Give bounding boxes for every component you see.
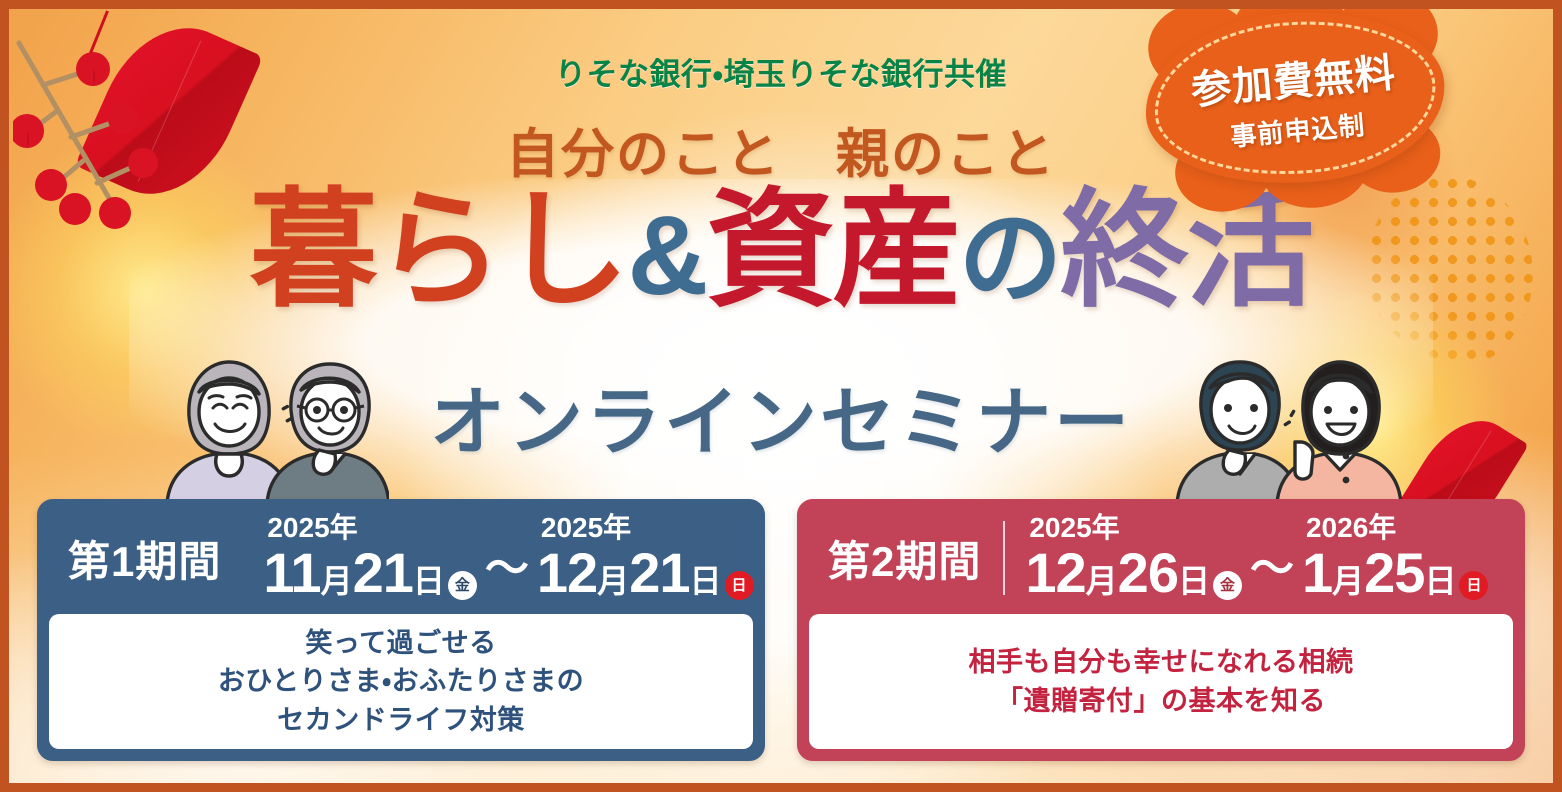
start-month: 11 [263,545,320,601]
period-1-body-line-2: おひとりさま・おふたりさまの [218,666,584,696]
period-2-body-line-1: 相手も自分も幸せになれる相続 [969,647,1354,677]
start-month-unit: 月 [321,565,353,597]
end-day-unit: 日 [1424,565,1456,597]
seminar-banner: りそな銀行・埼玉りそな銀行共催 自分のこと 親のこと 暮らし&資産の終活 オンラ… [0,0,1562,792]
title-part-ampersand: & [628,193,707,318]
period-cards: 第1期間 2025年 11月21日金 〜 2025年 12月21日日 [9,499,1553,769]
start-day: 26 [1118,545,1178,601]
end-month-unit: 月 [597,565,629,597]
elderly-couple-illustration [159,354,389,504]
free-admission-badge: 参加費無料 事前申込制 [1138,0,1452,195]
period-2-body-line-2: 「遺贈寄付」の基本を知る [996,686,1326,716]
period-card-1-header: 第1期間 2025年 11月21日金 〜 2025年 12月21日日 [40,502,762,614]
period-card-2-body: 相手も自分も幸せになれる相続 「遺贈寄付」の基本を知る [809,614,1513,749]
title-part-no: の [958,201,1060,317]
period-card-1-body: 笑って過ごせる おひとりさま・おふたりさまの セカンドライフ対策 [49,614,753,749]
title-part-shukatsu: 終活 [1060,179,1312,322]
end-year: 2025年 [537,514,631,542]
end-day: 25 [1364,545,1424,601]
end-month: 1 [1302,545,1332,601]
date-range-tilde: 〜 [1246,532,1298,596]
younger-couple-illustration [1173,354,1403,504]
period-1-start-date: 2025年 11月21日金 [263,514,477,602]
period-card-1: 第1期間 2025年 11月21日金 〜 2025年 12月21日日 [37,499,765,761]
end-day: 21 [629,545,689,601]
period-1-dates: 2025年 11月21日金 〜 2025年 12月21日日 [263,514,753,602]
title-part-shisan: 資産 [706,179,958,322]
badge-line1: 参加費無料 [1189,40,1398,116]
start-year: 2025年 [1025,514,1119,542]
start-day: 21 [353,545,413,601]
period-1-body-line-3: セカンドライフ対策 [277,705,525,735]
period-1-label: 第1期間 [68,528,243,589]
period-1-end-date: 2025年 12月21日日 [537,514,754,602]
start-year: 2025年 [263,514,357,542]
period-2-start-date: 2025年 12月26日金 [1025,514,1242,602]
end-day-unit: 日 [690,565,722,597]
start-month-unit: 月 [1086,565,1118,597]
end-month-unit: 月 [1332,565,1364,597]
period-card-2: 第2期間 2025年 12月26日金 〜 2026年 1月25日日 [797,499,1525,761]
period-1-body-line-1: 笑って過ごせる [305,628,496,658]
date-range-tilde: 〜 [481,532,533,596]
end-year: 2026年 [1302,514,1396,542]
start-dow-badge: 金 [448,571,477,600]
start-dow-badge: 金 [1213,571,1242,600]
start-day-unit: 日 [1178,565,1210,597]
end-month: 12 [537,545,597,601]
period-card-2-header: 第2期間 2025年 12月26日金 〜 2026年 1月25日日 [800,502,1522,614]
period-2-dates: 2025年 12月26日金 〜 2026年 1月25日日 [1025,514,1500,602]
period-2-end-date: 2026年 1月25日日 [1302,514,1488,602]
end-dow-badge: 日 [725,571,754,600]
start-month: 12 [1025,545,1085,601]
divider [1003,521,1005,595]
badge-line2: 事前申込制 [1229,105,1367,154]
title-part-kurashi: 暮らし [250,179,628,322]
period-2-label: 第2期間 [828,528,1003,589]
start-day-unit: 日 [413,565,445,597]
end-dow-badge: 日 [1459,571,1488,600]
